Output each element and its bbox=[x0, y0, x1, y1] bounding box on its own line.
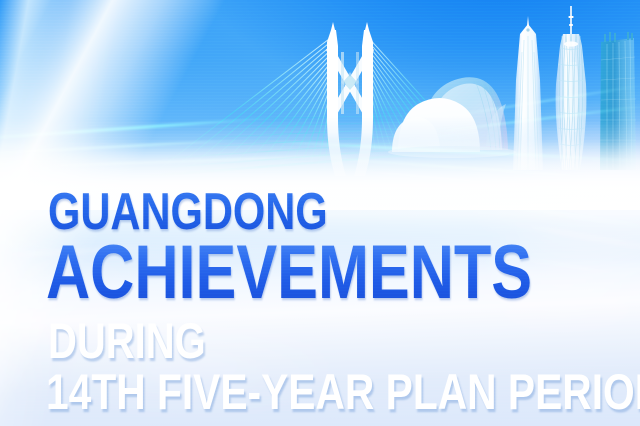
light-streak bbox=[501, 220, 640, 254]
light-streak bbox=[0, 245, 180, 259]
light-streaks-group bbox=[0, 0, 640, 426]
light-streak bbox=[0, 153, 400, 170]
light-streak bbox=[0, 138, 260, 156]
light-streak bbox=[0, 201, 180, 212]
light-streak bbox=[431, 243, 640, 283]
light-streak bbox=[250, 139, 640, 164]
light-streak bbox=[421, 103, 640, 134]
poster-canvas: GUANGDONG ACHIEVEMENTS DURING 14TH FIVE-… bbox=[0, 0, 640, 426]
light-streak bbox=[471, 200, 640, 231]
light-streak bbox=[441, 84, 640, 119]
